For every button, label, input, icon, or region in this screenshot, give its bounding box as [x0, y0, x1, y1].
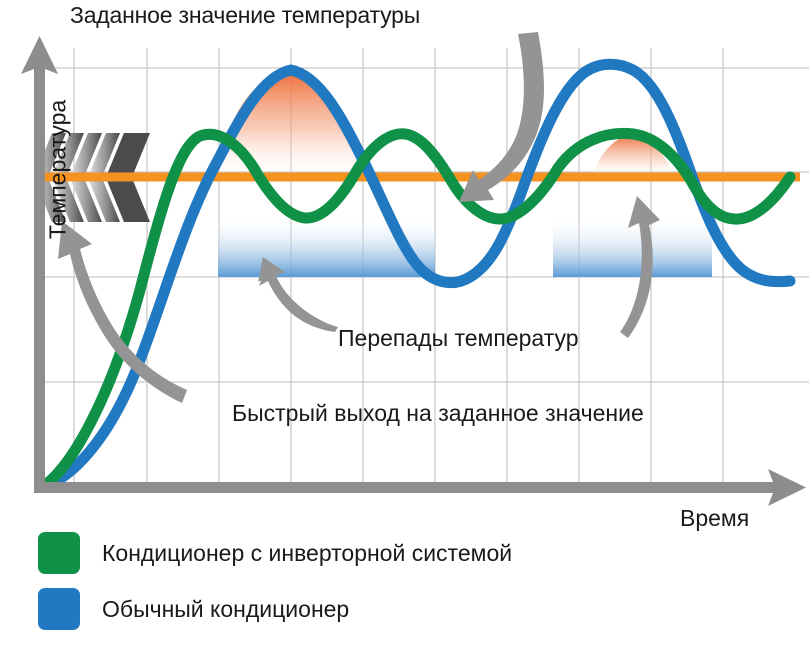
legend-label-conventional: Обычный кондиционер	[102, 596, 349, 623]
legend-swatch-conventional	[38, 588, 80, 630]
axis-arrow-right-icon	[762, 469, 806, 506]
chart-title: Заданное значение температуры	[70, 2, 420, 29]
annotation-temperature-drops: Перепады температур	[338, 325, 579, 352]
y-axis-label: Температура	[45, 70, 72, 270]
legend-item-conventional[interactable]: Обычный кондиционер	[38, 581, 798, 637]
annotation-fast-reach: Быстрый выход на заданное значение	[232, 400, 644, 427]
chart-legend: Кондиционер с инверторной системой Обычн…	[38, 525, 798, 637]
curved-arrow-up-left-icon	[58, 221, 187, 403]
y-axis-line	[34, 60, 45, 492]
legend-swatch-inverter	[38, 532, 80, 574]
legend-item-inverter[interactable]: Кондиционер с инверторной системой	[38, 525, 798, 581]
undershoot-band-inverter	[553, 218, 712, 277]
x-axis-line	[34, 482, 782, 493]
legend-label-inverter: Кондиционер с инверторной системой	[102, 540, 512, 567]
chart-figure: Заданное значение температуры Температур…	[0, 0, 809, 649]
